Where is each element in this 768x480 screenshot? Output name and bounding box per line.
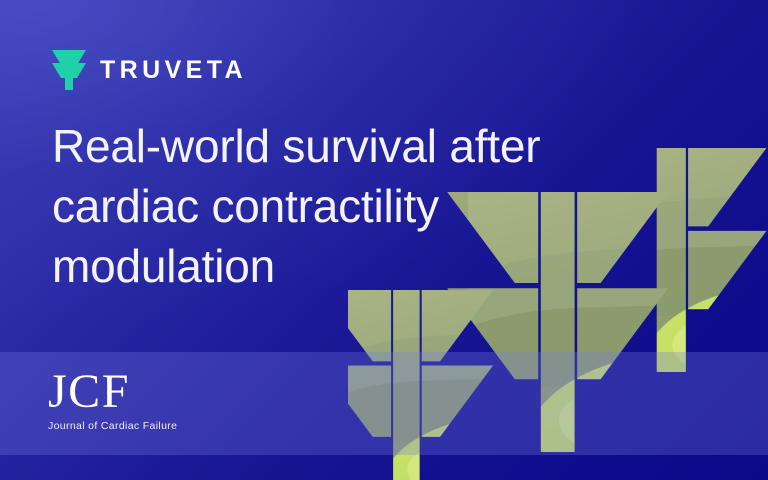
- jcf-journal-logo: JCF Journal of Cardiac Failure: [48, 368, 177, 432]
- jcf-journal-name: Journal of Cardiac Failure: [48, 420, 177, 432]
- slide-title: Real-world survival after cardiac contra…: [52, 117, 662, 296]
- chevron-stalk-right: [657, 148, 767, 372]
- truveta-logo: TRUVETA: [52, 50, 247, 90]
- truveta-wordmark: TRUVETA: [100, 58, 247, 83]
- chevron-stalk-left: [348, 290, 493, 480]
- presentation-slide: TRUVETA Real-world survival after cardia…: [0, 0, 768, 480]
- truveta-chevron-logomark: [52, 50, 86, 90]
- jcf-mark: JCF: [48, 368, 177, 415]
